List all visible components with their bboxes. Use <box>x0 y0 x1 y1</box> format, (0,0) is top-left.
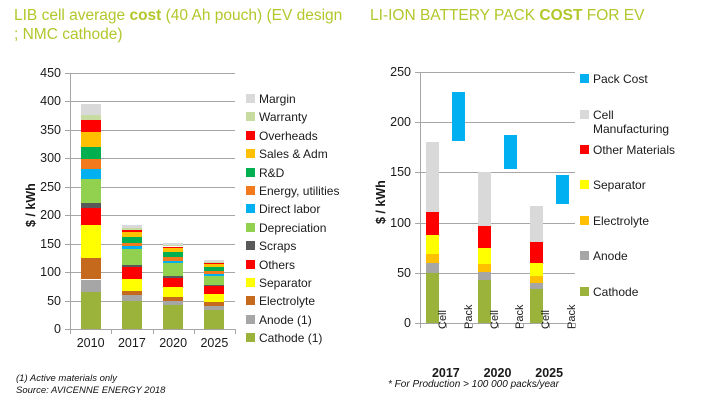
segment-cell-manufacturing <box>426 142 439 211</box>
y-axis-tick-label: 50 <box>21 294 61 308</box>
legend-label: Separator <box>593 178 646 192</box>
right-plot-area: 250200150100500$ / kWhCellPack2017CellPa… <box>420 72 575 323</box>
legend-swatch-icon <box>580 216 589 225</box>
y-axis-tick-label: 150 <box>21 237 61 251</box>
bar-pack-2025 <box>556 175 569 203</box>
legend-label: Energy, utilities <box>259 184 339 198</box>
legend-swatch-icon <box>580 180 589 189</box>
legend-swatch-icon <box>246 149 255 158</box>
legend-item-cell-manufacturing: Cell Manufacturing <box>580 108 669 136</box>
left-chart-panel: LIB cell average cost (40 Ah pouch) (EV … <box>0 0 360 407</box>
legend-swatch-icon <box>246 260 255 269</box>
segment-cell-manufacturing <box>478 172 491 225</box>
legend-label: Electrolyte <box>593 214 649 228</box>
segment-cathode-1 <box>122 301 142 329</box>
right-chart-title: LI-ION BATTERY PACK COST FOR EV <box>370 6 710 25</box>
bar-cell-2020 <box>478 72 491 323</box>
legend-item-warranty: Warranty <box>246 110 307 124</box>
segment-depreciation <box>163 263 183 276</box>
bar-cell-2017 <box>426 72 439 323</box>
segment-anode <box>426 263 439 273</box>
legend-item-cathode-1: Cathode (1) <box>246 331 322 345</box>
legend-item-cathode: Cathode <box>580 285 638 299</box>
y-axis-tick-label: 350 <box>21 123 61 137</box>
segment-separator <box>163 287 183 296</box>
segment-overheads <box>204 263 224 264</box>
right-footnote: * For Production > 100 000 packs/year <box>388 379 559 391</box>
legend-label: Pack Cost <box>593 72 648 86</box>
legend-item-electrolyte: Electrolyte <box>246 294 315 308</box>
x-tickmark <box>498 323 499 328</box>
x-tickmark <box>235 329 236 334</box>
gridline <box>420 122 575 123</box>
legend-label: Sales & Adm <box>259 147 328 161</box>
segment-other-materials <box>426 212 439 235</box>
x-tickmark <box>549 323 550 328</box>
x-group-label-2017: 2017 <box>420 366 472 380</box>
legend-item-separator: Separator <box>580 178 646 192</box>
y-axis-label: $ / kWh <box>374 180 388 224</box>
legend-swatch-icon <box>580 110 589 119</box>
segment-r-d <box>204 267 224 271</box>
right-title-text-bold: COST <box>539 7 582 24</box>
legend-label: Anode (1) <box>259 313 312 327</box>
x-tickmark <box>420 323 421 328</box>
bar-2017 <box>122 73 142 329</box>
legend-item-depreciation: Depreciation <box>246 221 326 235</box>
segment-others <box>163 278 183 288</box>
legend-swatch-icon <box>580 145 589 154</box>
legend-item-scraps: Scraps <box>246 239 296 253</box>
segment-margin <box>81 104 101 114</box>
segment-margin <box>204 260 224 262</box>
segment-r-d <box>122 237 142 243</box>
legend-swatch-icon <box>246 333 255 342</box>
segment-margin <box>122 225 142 228</box>
legend-label: Other Materials <box>593 143 675 157</box>
gridline <box>420 223 575 224</box>
y-axis-line <box>70 73 71 329</box>
segment-other-materials <box>478 226 491 248</box>
legend-label: Margin <box>259 92 296 106</box>
legend-item-energy-utilities: Energy, utilities <box>246 184 339 198</box>
x-group-label-2025: 2025 <box>523 366 575 380</box>
gridline <box>420 72 575 73</box>
segment-electrolyte <box>122 291 142 296</box>
segment-cathode-1 <box>81 292 101 329</box>
y-axis-line <box>420 72 421 323</box>
segment-separator <box>122 279 142 291</box>
legend-swatch-icon <box>246 296 255 305</box>
bar-pack-2020 <box>504 135 517 169</box>
legend-swatch-icon <box>246 168 255 177</box>
segment-energy-utilities <box>122 243 142 246</box>
y-axis-tick-label: 400 <box>21 94 61 108</box>
left-title-text-bold: cost <box>129 7 161 24</box>
segment-separator <box>81 225 101 257</box>
x-tickmark <box>194 329 195 334</box>
legend-swatch-icon <box>580 287 589 296</box>
right-title-text-1: LI-ION BATTERY PACK <box>370 7 539 24</box>
legend-swatch-icon <box>246 186 255 195</box>
x-sublabel-pack-2025: Pack <box>566 305 578 329</box>
segment-warranty <box>204 262 224 263</box>
legend-label: Cathode (1) <box>259 331 322 345</box>
segment-electrolyte <box>81 258 101 280</box>
segment-anode-1 <box>163 301 183 306</box>
left-chart-title: LIB cell average cost (40 Ah pouch) (EV … <box>14 6 344 44</box>
segment-scraps <box>81 203 101 208</box>
segment-electrolyte <box>204 302 224 305</box>
legend-label: Overheads <box>259 129 318 143</box>
segment-overheads <box>122 230 142 232</box>
segment-direct-labor <box>204 274 224 276</box>
segment-r-d <box>81 147 101 160</box>
y-axis-label: $ / kWh <box>24 183 38 227</box>
segment-separator <box>530 263 543 276</box>
x-tickmark <box>575 323 576 328</box>
legend-item-separator: Separator <box>246 276 312 290</box>
segment-electrolyte <box>478 264 491 272</box>
y-axis-tick-label: 300 <box>21 151 61 165</box>
segment-separator <box>426 235 439 254</box>
legend-label: Depreciation <box>259 221 326 235</box>
legend-item-sales-adm: Sales & Adm <box>246 147 328 161</box>
segment-anode <box>478 272 491 280</box>
legend-item-direct-labor: Direct labor <box>246 202 320 216</box>
segment-electrolyte <box>530 276 543 283</box>
legend-item-overheads: Overheads <box>246 129 318 143</box>
segment-warranty <box>81 115 101 121</box>
legend-item-margin: Margin <box>246 92 296 106</box>
segment-warranty <box>122 228 142 230</box>
segment-scraps <box>122 265 142 267</box>
legend-label: Direct labor <box>259 202 320 216</box>
segment-cell-manufacturing <box>530 206 543 242</box>
segment-electrolyte <box>163 297 183 301</box>
segment-anode-1 <box>122 295 142 300</box>
x-tickmark <box>523 323 524 328</box>
segment-scraps <box>204 285 224 287</box>
bar-2020 <box>163 73 183 329</box>
legend-label: R&D <box>259 166 284 180</box>
x-tickmark <box>446 323 447 328</box>
y-axis-tick-label: 0 <box>371 316 411 330</box>
segment-others <box>204 286 224 294</box>
legend-item-other-materials: Other Materials <box>580 143 675 157</box>
legend-label: Cathode <box>593 285 638 299</box>
segment-direct-labor <box>122 246 142 249</box>
legend-item-r-d: R&D <box>246 166 284 180</box>
y-axis-tick-label: 250 <box>371 65 411 79</box>
x-sublabel-pack-2017: Pack <box>463 305 475 329</box>
legend-label: Cell Manufacturing <box>593 108 669 136</box>
x-tickmark <box>111 329 112 334</box>
segment-energy-utilities <box>204 271 224 274</box>
y-axis-tick-label: 450 <box>21 66 61 80</box>
right-chart-panel: LI-ION BATTERY PACK COST FOR EV 25020015… <box>360 0 720 407</box>
left-footnote: (1) Active materials only Source: AVICEN… <box>16 373 165 397</box>
segment-depreciation <box>122 249 142 265</box>
segment-depreciation <box>81 179 101 203</box>
x-sublabel-cell-2017: Cell <box>437 310 449 329</box>
segment-sales-adm <box>204 264 224 267</box>
segment-others <box>122 267 142 279</box>
legend-item-pack-cost: Pack Cost <box>580 72 648 86</box>
x-tickmark <box>153 329 154 334</box>
legend-label: Separator <box>259 276 312 290</box>
bar-cell-2025 <box>530 72 543 323</box>
left-title-text-1: LIB cell average <box>14 7 129 24</box>
bar-pack-2017 <box>452 92 465 141</box>
segment-cathode-1 <box>204 310 224 329</box>
x-sublabel-cell-2020: Cell <box>489 310 501 329</box>
legend-swatch-icon <box>246 112 255 121</box>
x-tickmark <box>472 323 473 328</box>
segment-sales-adm <box>122 232 142 237</box>
segment-separator <box>204 294 224 302</box>
legend-swatch-icon <box>246 241 255 250</box>
right-title-text-2: FOR EV <box>582 7 644 24</box>
y-axis-tick-label: 150 <box>371 165 411 179</box>
legend-swatch-icon <box>246 223 255 232</box>
segment-sales-adm <box>163 248 183 252</box>
left-plot-area: 450400350300250200150100500$ / kWh201020… <box>70 73 235 329</box>
segment-anode-1 <box>204 306 224 310</box>
segment-overheads <box>81 120 101 132</box>
segment-electrolyte <box>426 254 439 263</box>
segment-direct-labor <box>163 261 183 263</box>
segment-anode-1 <box>81 280 101 293</box>
legend-swatch-icon <box>246 204 255 213</box>
x-tickmark <box>70 329 71 334</box>
legend-item-electrolyte: Electrolyte <box>580 214 649 228</box>
legend-label: Anode <box>593 249 628 263</box>
segment-sales-adm <box>81 132 101 147</box>
legend-swatch-icon <box>246 315 255 324</box>
legend-swatch-icon <box>246 131 255 140</box>
gridline <box>420 172 575 173</box>
bar-2010 <box>81 73 101 329</box>
x-sublabel-cell-2025: Cell <box>540 310 552 329</box>
legend-item-others: Others <box>246 258 295 272</box>
segment-energy-utilities <box>163 257 183 260</box>
gridline <box>420 273 575 274</box>
segment-energy-utilities <box>81 159 101 169</box>
segment-margin <box>163 243 183 246</box>
legend-label: Others <box>259 258 295 272</box>
segment-scraps <box>163 276 183 278</box>
legend-swatch-icon <box>580 251 589 260</box>
legend-item-anode-1: Anode (1) <box>246 313 312 327</box>
segment-cathode-1 <box>163 305 183 329</box>
x-sublabel-pack-2020: Pack <box>514 305 526 329</box>
segment-others <box>81 208 101 225</box>
segment-warranty <box>163 245 183 246</box>
legend-label: Electrolyte <box>259 294 315 308</box>
legend-swatch-icon <box>246 278 255 287</box>
segment-depreciation <box>204 276 224 285</box>
y-axis-tick-label: 0 <box>21 322 61 336</box>
y-axis-tick-label: 50 <box>371 266 411 280</box>
legend-swatch-icon <box>580 74 589 83</box>
x-group-label-2020: 2020 <box>472 366 524 380</box>
y-axis-tick-label: 100 <box>21 265 61 279</box>
segment-overheads <box>163 247 183 249</box>
segment-separator <box>478 248 491 264</box>
y-axis-tick-label: 200 <box>371 115 411 129</box>
segment-anode <box>530 283 543 289</box>
legend-swatch-icon <box>246 94 255 103</box>
legend-label: Scraps <box>259 239 296 253</box>
segment-direct-labor <box>81 169 101 179</box>
x-axis-tick-label: 2025 <box>188 336 240 350</box>
segment-r-d <box>163 252 183 257</box>
bar-2025 <box>204 73 224 329</box>
legend-item-anode: Anode <box>580 249 628 263</box>
legend-label: Warranty <box>259 110 307 124</box>
segment-other-materials <box>530 242 543 263</box>
